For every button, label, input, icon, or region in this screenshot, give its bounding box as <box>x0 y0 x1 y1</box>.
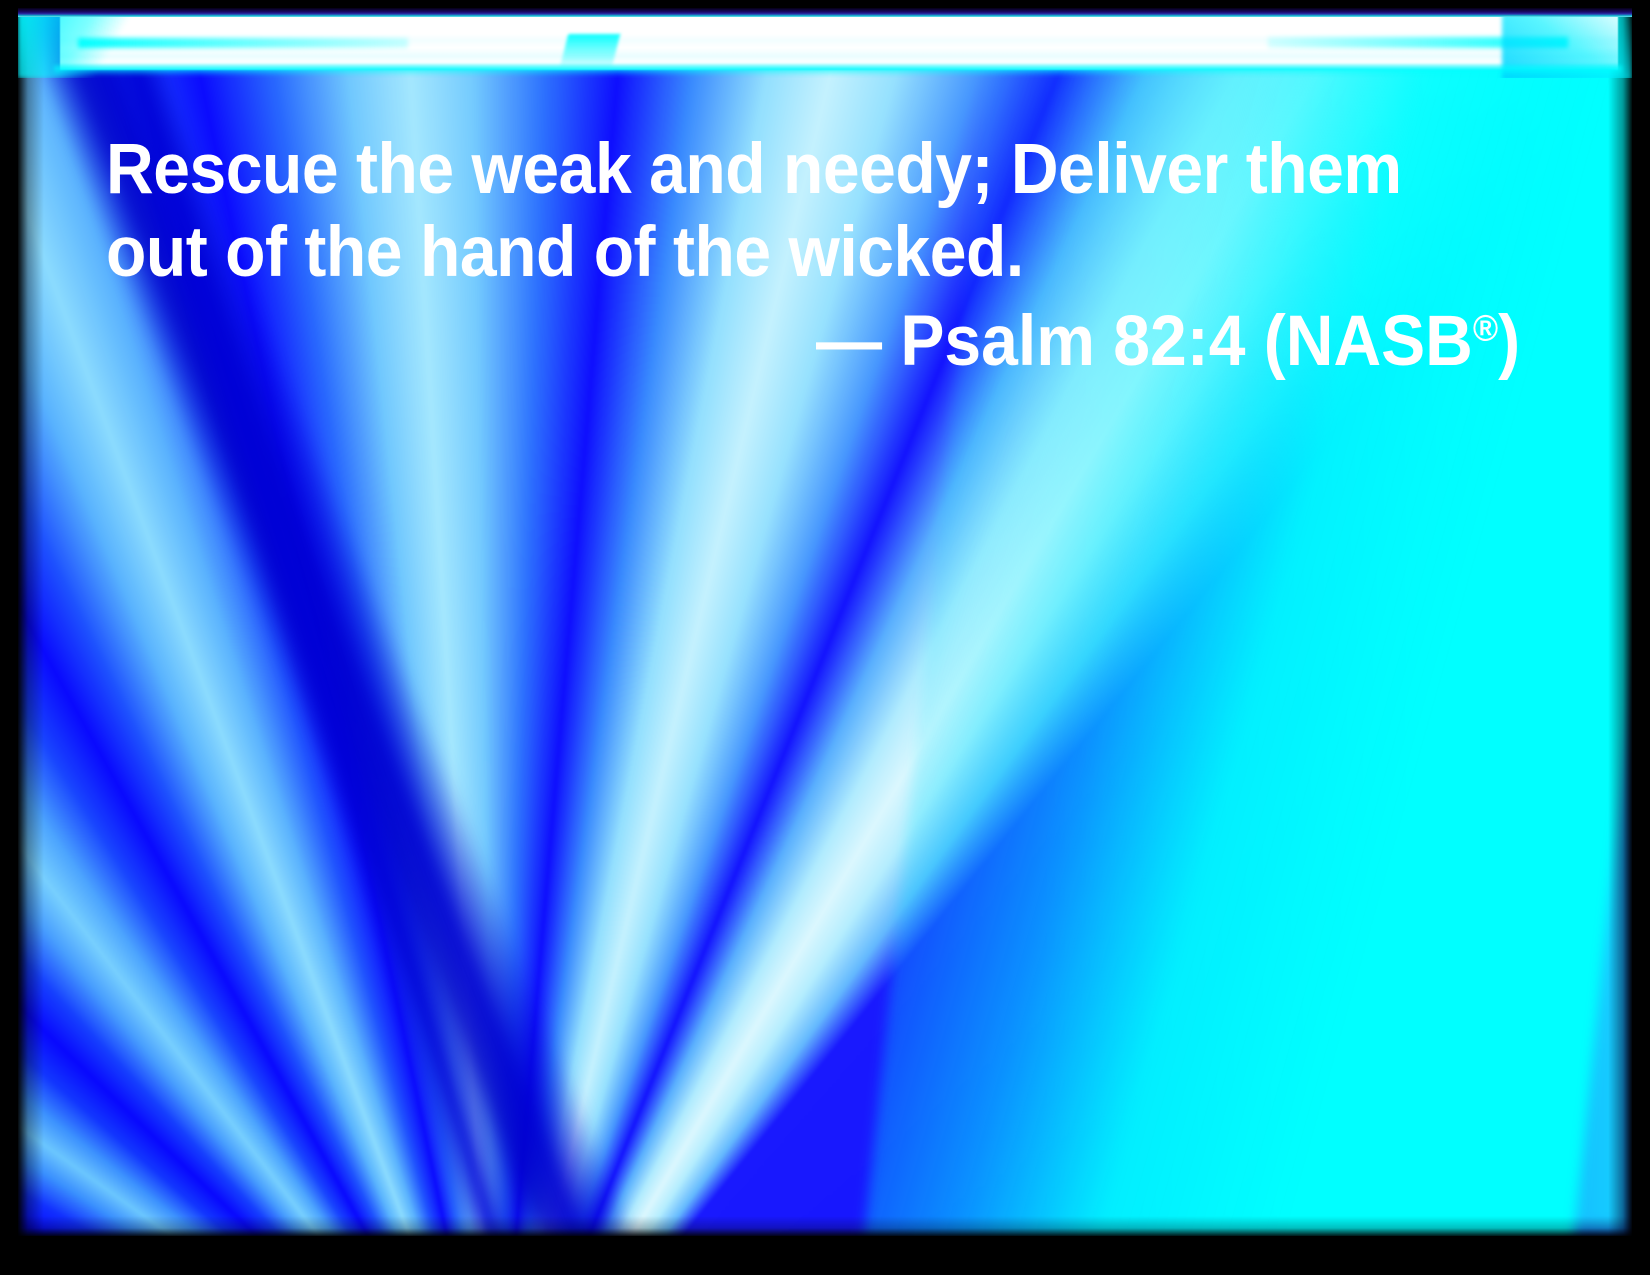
slide-artwork-area: Rescue the weak and needy; Deliver them … <box>18 8 1632 1236</box>
verse-line-1: Rescue the weak and needy; Deliver them <box>106 128 1427 211</box>
top-light-bar <box>18 8 1632 78</box>
verse-line-2: out of the hand of the wicked. <box>106 211 1427 294</box>
attribution-reference: Psalm 82:4 (NASB <box>900 302 1472 381</box>
attribution-em-dash: — <box>816 302 900 381</box>
verse-slide: Rescue the weak and needy; Deliver them … <box>0 0 1650 1275</box>
verse-attribution: — Psalm 82:4 (NASB®) <box>106 300 1526 383</box>
attribution-close-paren: ) <box>1498 302 1520 381</box>
registered-trademark-icon: ® <box>1473 307 1498 348</box>
top-edge-hairline <box>18 8 1632 17</box>
top-light-bar-cyan-notch <box>560 34 620 68</box>
top-light-bar-underglow <box>54 66 1622 76</box>
verse-attribution-inner: — Psalm 82:4 (NASB®) <box>816 300 1520 383</box>
verse-text-block: Rescue the weak and needy; Deliver them … <box>106 128 1526 383</box>
